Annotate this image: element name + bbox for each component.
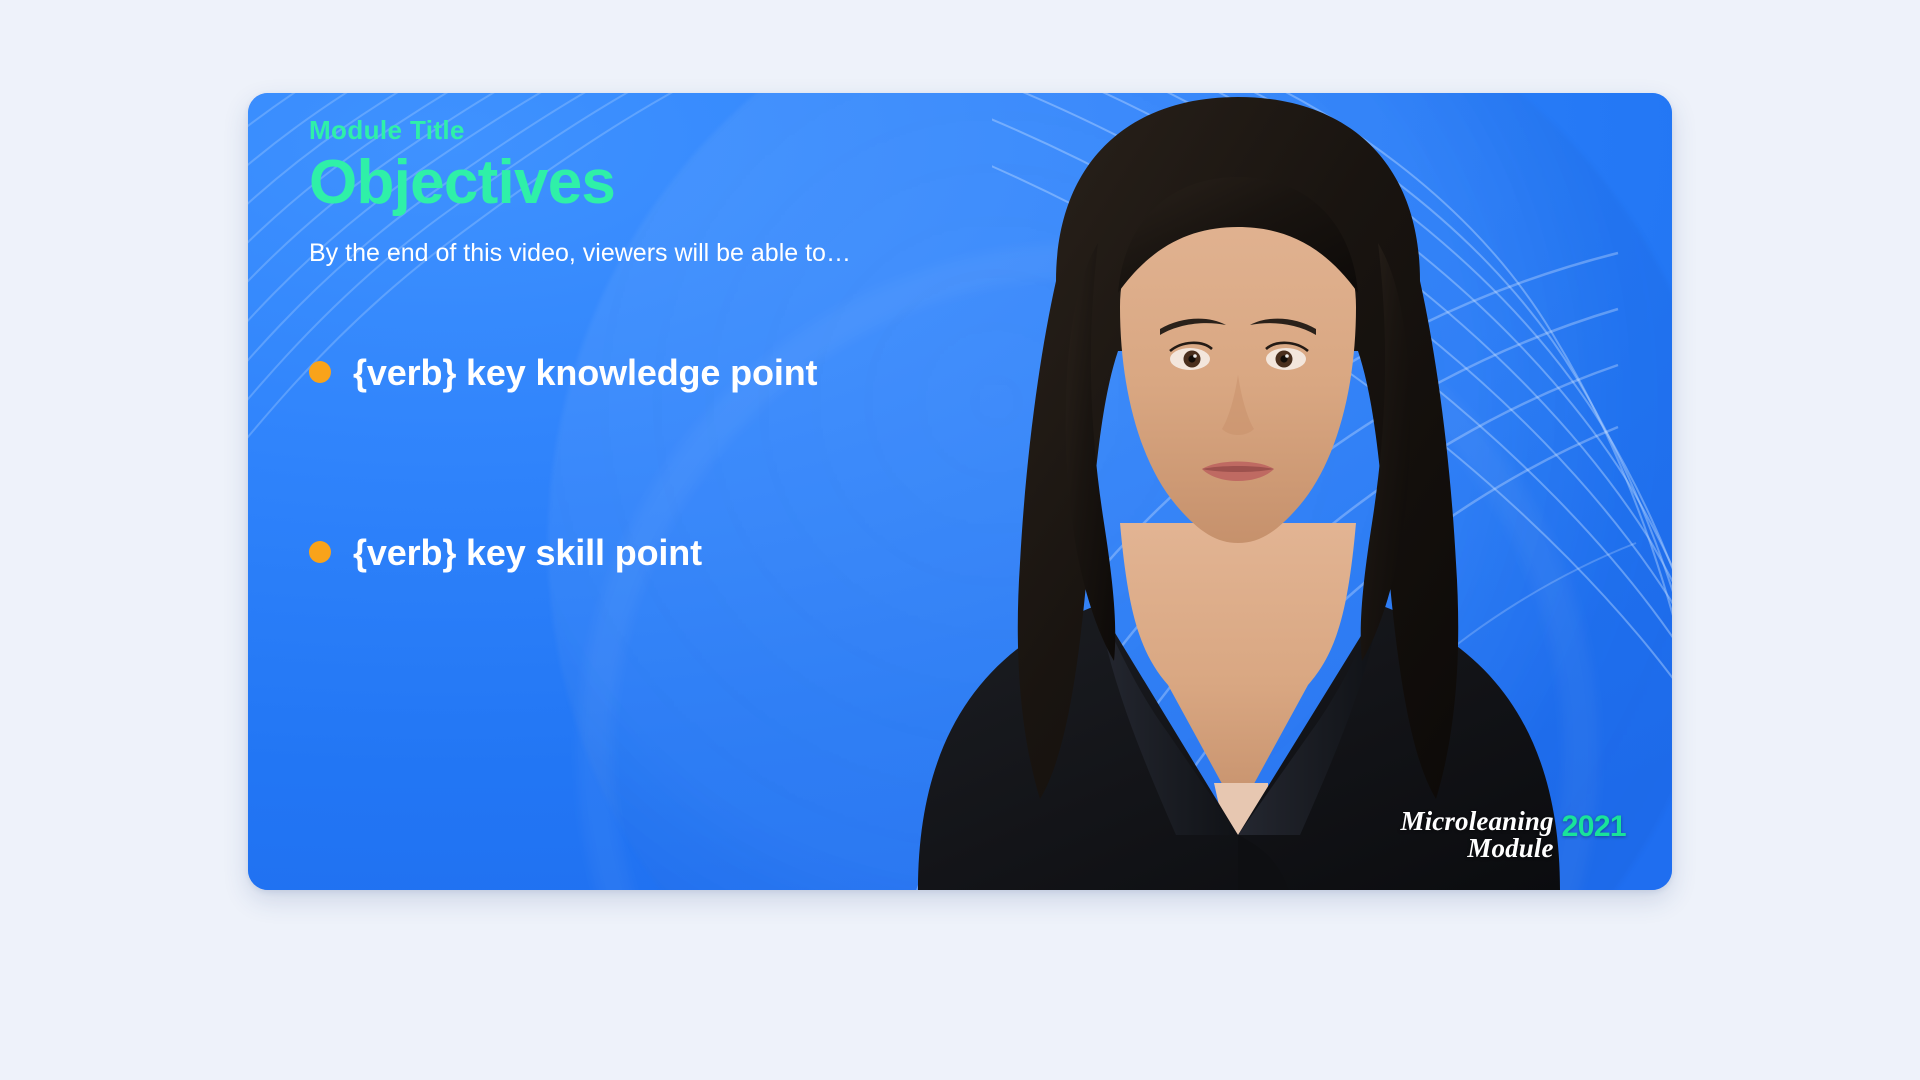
bullet-label: {verb} key knowledge point <box>353 352 817 393</box>
bullet-label: {verb} key skill point <box>353 532 702 573</box>
brand-year: 2021 <box>1562 812 1626 862</box>
list-item: {verb} key knowledge point <box>309 330 1009 414</box>
slide-headline: Objectives <box>309 150 1009 216</box>
list-item: {verb} key skill point <box>309 510 1009 594</box>
objectives-slide-card[interactable]: Module Title Objectives By the end of th… <box>248 93 1672 890</box>
page-root: Module Title Objectives By the end of th… <box>0 0 1920 1080</box>
slide-eyebrow: Module Title <box>309 115 1009 146</box>
slide-lead-text: By the end of this video, viewers will b… <box>309 236 889 271</box>
bullet-dot-icon <box>309 541 331 563</box>
brand-wordmark: Microleaning Module <box>1401 808 1554 862</box>
brand-line-2: Module <box>1401 835 1554 862</box>
bullet-dot-icon <box>309 361 331 383</box>
brand-logo-lockup: Microleaning Module 2021 <box>1401 808 1626 862</box>
brand-line-1: Microleaning <box>1401 806 1554 836</box>
objectives-bullet-list: {verb} key knowledge point {verb} key sk… <box>309 330 1009 594</box>
slide-text-column: Module Title Objectives By the end of th… <box>309 115 1009 594</box>
